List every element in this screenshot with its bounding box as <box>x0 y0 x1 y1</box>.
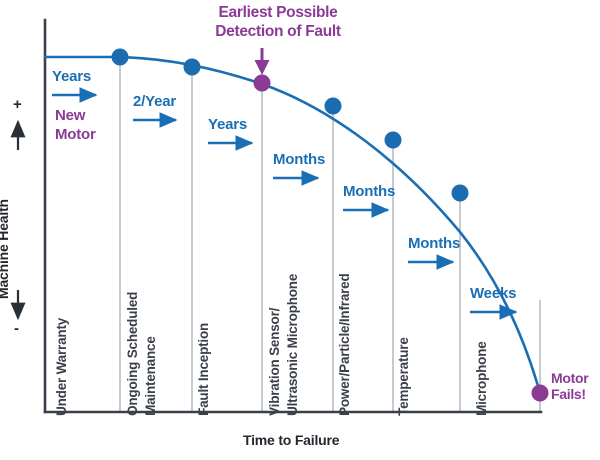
y-axis-minus-sign: - <box>14 320 19 337</box>
fault-annotation-line1: Earliest Possible <box>198 4 358 23</box>
interval-label-4: Months <box>273 151 325 168</box>
interval-label-6: Months <box>408 235 460 252</box>
interval-arrows <box>52 95 516 312</box>
motor-fails-label: Motor Fails! <box>551 370 588 402</box>
interval-label-7: Weeks <box>470 285 516 302</box>
fault-annotation-arrow-icon <box>255 48 270 75</box>
pf-curve-diagram: Earliest Possible Detection of Fault Yea… <box>0 0 600 460</box>
marker-motor-fails <box>532 385 549 402</box>
motor-fails-line1: Motor <box>551 370 588 386</box>
marker-vibration-sensor <box>325 98 342 115</box>
y-axis-plus-sign: + <box>13 96 22 113</box>
column-label-under-warranty: Under Warranty <box>54 318 70 416</box>
interval-label-3: Years <box>208 116 247 133</box>
column-label-ongoing-scheduled: Ongoing Scheduled <box>125 292 141 416</box>
marker-fault-inception <box>254 75 271 92</box>
new-motor-note-line1: New <box>55 107 85 124</box>
x-axis-title: Time to Failure <box>243 432 339 448</box>
marker-new-motor <box>112 49 129 66</box>
column-label-fault-inception: Fault Inception <box>196 323 212 416</box>
column-label-maintenance: Maintenance <box>143 336 159 416</box>
interval-label-2: 2/Year <box>133 93 176 110</box>
marker-temperature <box>452 185 469 202</box>
interval-label-5: Months <box>343 183 395 200</box>
y-axis-title: Machine Health <box>0 199 11 299</box>
column-label-vibration-sensor: Vibration Sensor/ <box>267 308 283 416</box>
fault-annotation-text: Earliest Possible Detection of Fault <box>198 4 358 42</box>
column-label-microphone: Microphone <box>474 341 490 416</box>
interval-label-1: Years <box>52 68 91 85</box>
marker-scheduled-maintenance <box>184 59 201 76</box>
marker-power-particle-infrared <box>385 132 402 149</box>
new-motor-note-line2: Motor <box>55 126 96 143</box>
fault-annotation-line2: Detection of Fault <box>198 23 358 42</box>
column-label-ultrasonic-microphone: Ultrasonic Microphone <box>285 274 301 416</box>
column-label-temperature: Temperature <box>396 337 412 416</box>
motor-fails-line2: Fails! <box>551 386 588 402</box>
column-label-power-particle-infrared: Power/Particle/Infrared <box>337 273 353 415</box>
